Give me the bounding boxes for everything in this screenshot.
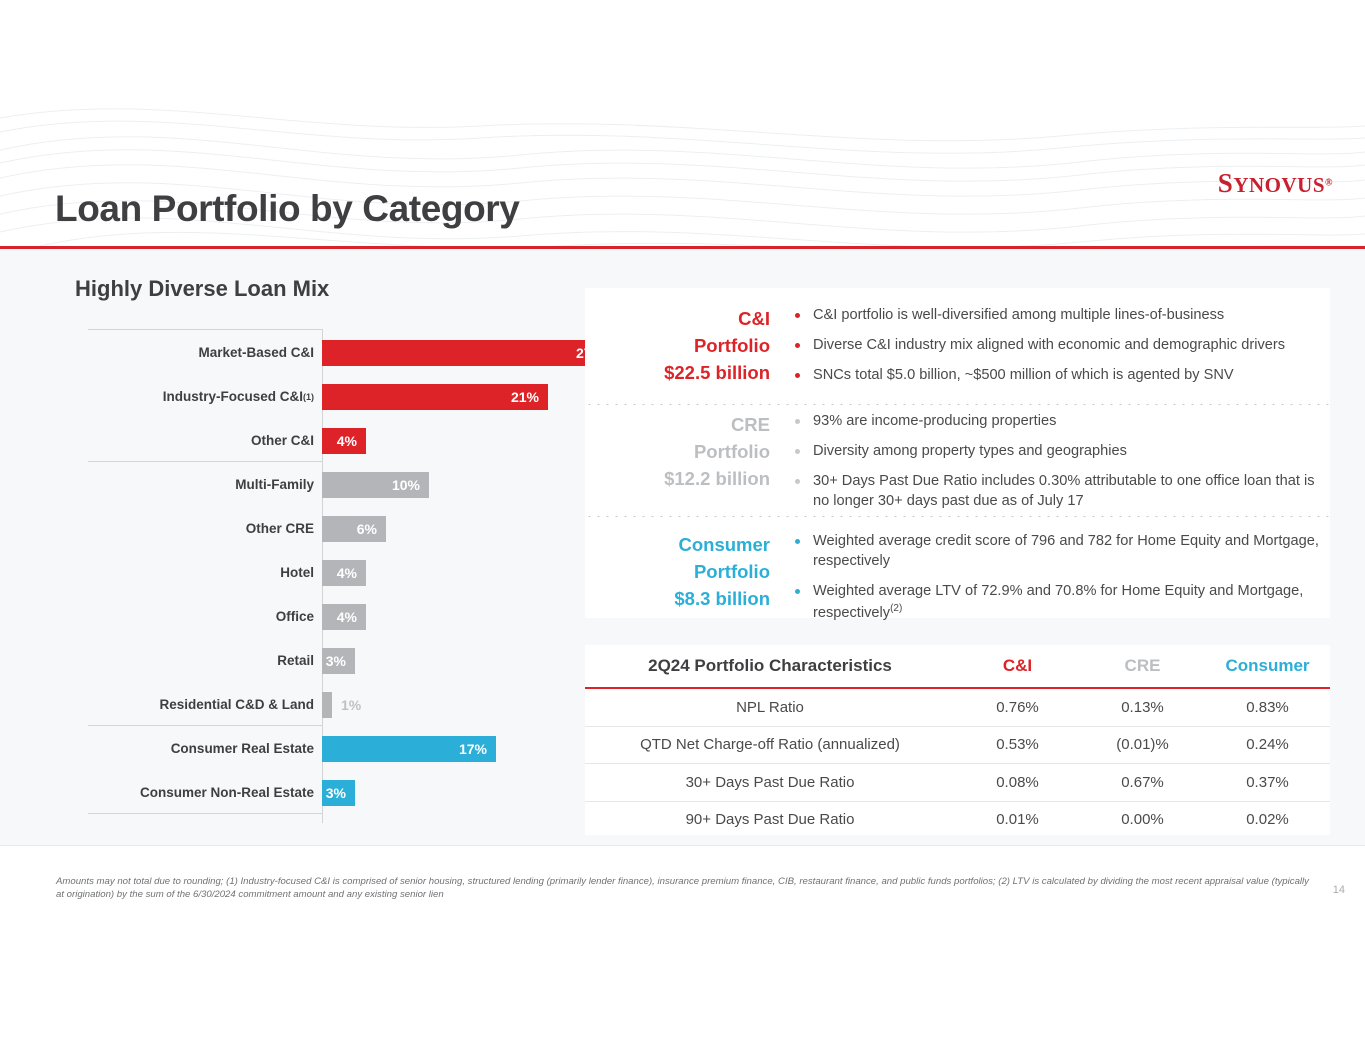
chart-rule-top — [88, 329, 322, 330]
table-row: 30+ Days Past Due Ratio 0.08% 0.67% 0.37… — [585, 764, 1330, 802]
bar-row: Multi-Family 10% — [56, 463, 576, 507]
segment-title-line: $8.3 billion — [585, 586, 770, 613]
table-cell-cni: 0.76% — [955, 688, 1080, 726]
table-cell-label: 90+ Days Past Due Ratio — [585, 801, 955, 838]
bar-market-based-cni: 27% — [322, 340, 613, 366]
bar-value: 21% — [511, 389, 548, 405]
segment-title-cre: CRE Portfolio $12.2 billion — [585, 412, 770, 492]
bar-label: Hotel — [56, 551, 314, 595]
table-header-row: 2Q24 Portfolio Characteristics C&I CRE C… — [585, 645, 1330, 688]
bar-retail: 3% — [322, 648, 355, 674]
segment-title-line: Portfolio — [585, 559, 770, 586]
bullet-item: Diversity among property types and geogr… — [785, 442, 1330, 462]
table-cell-label: QTD Net Charge-off Ratio (annualized) — [585, 726, 955, 764]
bullet-item: 93% are income-producing properties — [785, 412, 1330, 432]
bar-row: Residential C&D & Land 1% — [56, 683, 576, 727]
bar-consumer-non-real-estate: 3% — [322, 780, 355, 806]
chart-heading: Highly Diverse Loan Mix — [75, 276, 329, 302]
bar-value: 4% — [337, 609, 366, 625]
bar-value: 17% — [459, 741, 496, 757]
bar-hotel: 4% — [322, 560, 366, 586]
table-cell-cre: 0.67% — [1080, 764, 1205, 802]
table-cell-cre: 0.00% — [1080, 801, 1205, 838]
segment-bullets-consumer: Weighted average credit score of 796 and… — [785, 532, 1330, 633]
segment-title-cni: C&I Portfolio $22.5 billion — [585, 306, 770, 386]
segment-title-line: $12.2 billion — [585, 466, 770, 493]
bar-other-cni: 4% — [322, 428, 366, 454]
bullet-item: C&I portfolio is well-diversified among … — [785, 306, 1330, 326]
footer-divider — [0, 845, 1365, 846]
segment-bullets-cre: 93% are income-producing properties Dive… — [785, 412, 1330, 521]
bar-consumer-real-estate: 17% — [322, 736, 496, 762]
segment-separator — [585, 516, 1330, 517]
segment-title-line: $22.5 billion — [585, 360, 770, 387]
bar-label-text: Industry-Focused C&I — [163, 389, 303, 405]
table-header-consumer: Consumer — [1205, 645, 1330, 688]
table-cell-cre: 0.13% — [1080, 688, 1205, 726]
table-cell-consumer: 0.24% — [1205, 726, 1330, 764]
bar-row: Other C&I 4% — [56, 419, 576, 463]
logo-wordmark: YNOVUS — [1233, 173, 1325, 197]
table-cell-label: NPL Ratio — [585, 688, 955, 726]
bar-multi-family: 10% — [322, 472, 429, 498]
table-cell-label: 30+ Days Past Due Ratio — [585, 764, 955, 802]
bullet-text: Weighted average LTV of 72.9% and 70.8% … — [813, 583, 1303, 621]
table-header-label: 2Q24 Portfolio Characteristics — [585, 645, 955, 688]
bar-value: 1% — [332, 697, 361, 713]
bar-row: Office 4% — [56, 595, 576, 639]
logo-initial: S — [1218, 168, 1234, 198]
bar-label: Retail — [56, 639, 314, 683]
bullet-item: 30+ Days Past Due Ratio includes 0.30% a… — [785, 472, 1330, 512]
registered-mark-icon: ® — [1325, 178, 1333, 189]
table-row: NPL Ratio 0.76% 0.13% 0.83% — [585, 688, 1330, 726]
bar-row: Retail 3% — [56, 639, 576, 683]
bar-row: Consumer Real Estate 17% — [56, 727, 576, 771]
bullet-item: Weighted average LTV of 72.9% and 70.8% … — [785, 582, 1330, 624]
bar-value: 6% — [357, 521, 386, 537]
table-cell-cni: 0.08% — [955, 764, 1080, 802]
segment-separator — [585, 404, 1330, 405]
footnote-marker: (2) — [890, 603, 902, 614]
bar-value: 4% — [337, 433, 366, 449]
bar-row: Consumer Non-Real Estate 3% — [56, 771, 576, 815]
bar-value: 10% — [392, 477, 429, 493]
table-header-cre: CRE — [1080, 645, 1205, 688]
bullet-item: Weighted average credit score of 796 and… — [785, 532, 1330, 572]
segment-title-consumer: Consumer Portfolio $8.3 billion — [585, 532, 770, 612]
segment-bullets-cni: C&I portfolio is well-diversified among … — [785, 306, 1330, 396]
bar-label: Residential C&D & Land — [56, 683, 314, 727]
footnote-marker: (1) — [303, 392, 314, 403]
portfolio-commentary-card: C&I Portfolio $22.5 billion C&I portfoli… — [585, 288, 1330, 618]
table-row: QTD Net Charge-off Ratio (annualized) 0.… — [585, 726, 1330, 764]
bar-other-cre: 6% — [322, 516, 386, 542]
bar-label: Other CRE — [56, 507, 314, 551]
table-cell-cni: 0.01% — [955, 801, 1080, 838]
bar-label: Other C&I — [56, 419, 314, 463]
segment-title-line: Portfolio — [585, 439, 770, 466]
table-cell-consumer: 0.37% — [1205, 764, 1330, 802]
table-row: 90+ Days Past Due Ratio 0.01% 0.00% 0.02… — [585, 801, 1330, 838]
bar-value: 4% — [337, 565, 366, 581]
table-cell-consumer: 0.02% — [1205, 801, 1330, 838]
portfolio-characteristics-table: 2Q24 Portfolio Characteristics C&I CRE C… — [585, 645, 1330, 835]
footnote-text: Amounts may not total due to rounding; (… — [56, 876, 1316, 902]
page-title: Loan Portfolio by Category — [55, 188, 519, 230]
synovus-logo: SYNOVUS® — [1218, 168, 1333, 199]
page-number: 14 — [1333, 884, 1345, 896]
bar-value: 3% — [326, 785, 355, 801]
bar-label: Market-Based C&I — [56, 331, 314, 375]
segment-title-line: C&I — [585, 306, 770, 333]
table-cell-cni: 0.53% — [955, 726, 1080, 764]
bar-label: Consumer Real Estate — [56, 727, 314, 771]
bar-row: Industry-Focused C&I(1) 21% — [56, 375, 576, 419]
table-cell-consumer: 0.83% — [1205, 688, 1330, 726]
table-cell-cre: (0.01)% — [1080, 726, 1205, 764]
bar-row: Market-Based C&I 27% — [56, 331, 576, 375]
bar-industry-focused-cni: 21% — [322, 384, 548, 410]
table-header-cni: C&I — [955, 645, 1080, 688]
bar-row: Other CRE 6% — [56, 507, 576, 551]
bar-label: Multi-Family — [56, 463, 314, 507]
bullet-item: Diverse C&I industry mix aligned with ec… — [785, 336, 1330, 356]
segment-title-line: Consumer — [585, 532, 770, 559]
segment-title-line: Portfolio — [585, 333, 770, 360]
bar-residential-cd-land: 1% — [322, 692, 332, 718]
bar-label: Office — [56, 595, 314, 639]
bar-label: Industry-Focused C&I(1) — [56, 375, 314, 419]
bar-office: 4% — [322, 604, 366, 630]
bar-value: 3% — [326, 653, 355, 669]
loan-mix-bar-chart: Market-Based C&I 27% Industry-Focused C&… — [56, 310, 576, 830]
bullet-item: SNCs total $5.0 billion, ~$500 million o… — [785, 366, 1330, 386]
segment-title-line: CRE — [585, 412, 770, 439]
bar-row: Hotel 4% — [56, 551, 576, 595]
bar-label: Consumer Non-Real Estate — [56, 771, 314, 815]
